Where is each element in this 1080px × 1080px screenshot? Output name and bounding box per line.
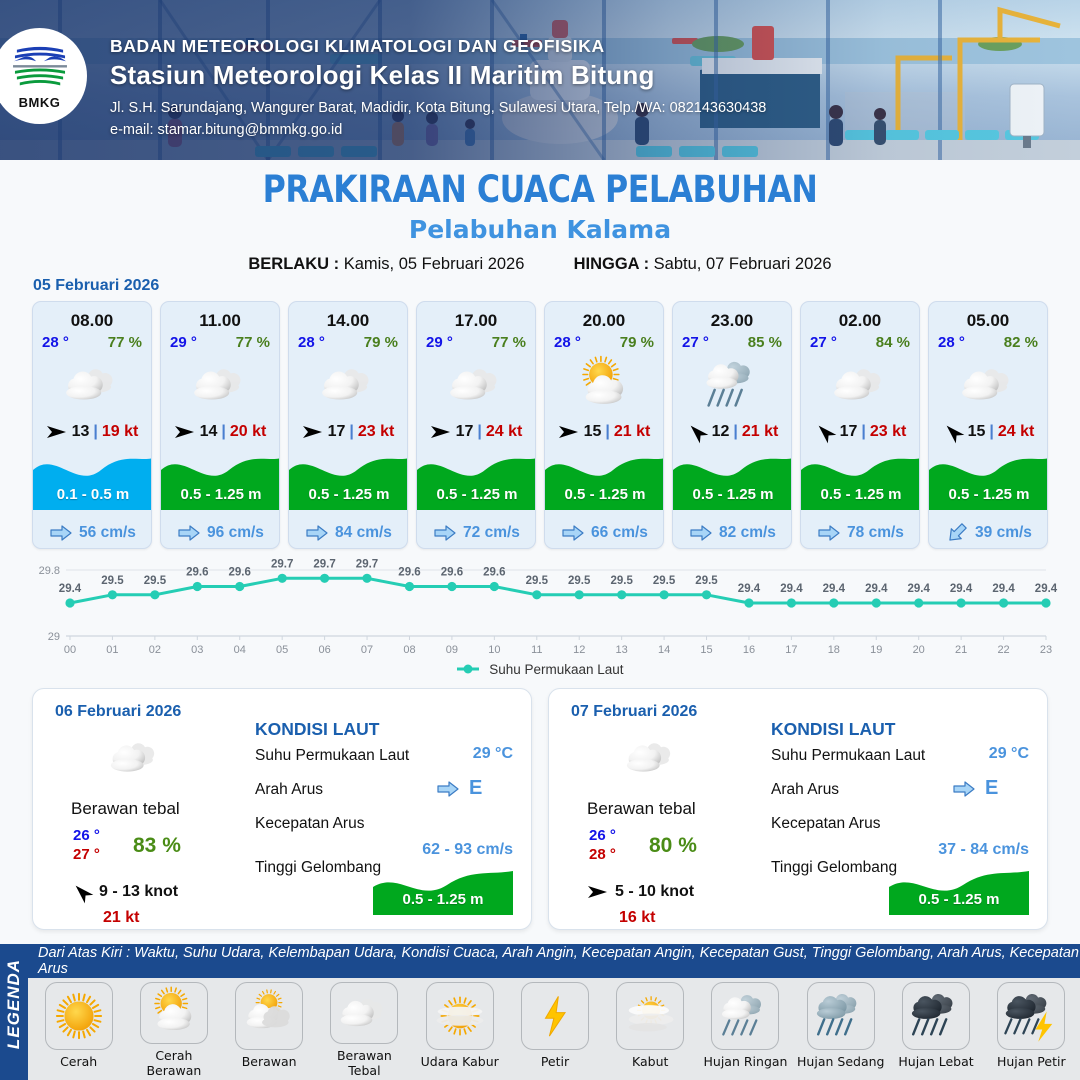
card-separator: | [989,423,993,441]
card-wave-band: 0.5 - 1.25 m [161,448,280,510]
panel-temp-max: 28 ° [589,846,616,863]
svg-text:05: 05 [276,644,288,656]
card-separator: | [93,423,97,441]
valid-until-value: Sabtu, 07 Februari 2026 [654,255,832,273]
current-direction-arrow-icon [306,525,328,541]
wave-height-label: Tinggi Gelombang [255,859,381,877]
current-direction-arrow-icon [953,781,975,797]
bmkg-logo-text: BMKG [19,95,61,110]
card-current-speed: 82 cm/s [719,524,776,542]
svg-text:29.5: 29.5 [653,575,676,587]
svg-text:12: 12 [573,644,585,656]
card-humidity: 85 % [748,334,782,351]
wind-direction-arrow-icon [430,423,452,441]
page-title: PRAKIRAAN CUACA PELABUHAN [27,168,1053,211]
wind-direction-arrow-icon [587,883,609,901]
wind-direction-arrow-icon [71,883,93,901]
current-speed-label: Kecepatan Arus [771,815,880,833]
berawan-tebal-icon [95,729,175,787]
panel-condition: Berawan tebal [71,799,180,819]
legend-item: Berawan [225,982,314,1078]
card-separator: | [733,423,737,441]
card-wave-band: 0.5 - 1.25 m [801,448,920,510]
card-time: 11.00 [161,311,279,331]
card-wave-band: 0.5 - 1.25 m [545,448,664,510]
svg-text:29.8: 29.8 [39,565,60,577]
sst-label: Suhu Permukaan Laut [255,747,409,765]
forecast-card: 11.00 29 ° 77 % [160,301,280,549]
validity-row: BERLAKU : Kamis, 05 Februari 2026 HINGGA… [0,255,1080,274]
card-gust: 21 kt [742,423,778,441]
card-time: 08.00 [33,311,151,331]
panel-wave-height: 0.5 - 1.25 m [373,891,513,908]
card-humidity: 79 % [364,334,398,351]
card-wind: 12 | 21 kt [673,420,791,444]
card-current: 78 cm/s [801,524,920,542]
wind-direction-arrow-icon [942,423,964,441]
berawan-tebal-icon [161,353,279,417]
svg-text:21: 21 [955,644,967,656]
panel-temperatures: 26 ° 28 ° [589,827,616,863]
card-wind: 14 | 20 kt [161,420,279,444]
svg-text:29.4: 29.4 [59,583,82,595]
card-current: 82 cm/s [673,524,792,542]
card-wave-band: 0.5 - 1.25 m [417,448,536,510]
forecast-card: 02.00 27 ° 84 % [800,301,920,549]
card-wind: 17 | 24 kt [417,420,535,444]
svg-text:15: 15 [700,644,712,656]
kabut-icon [616,982,684,1050]
card-time: 14.00 [289,311,407,331]
hujan-ringan-icon [711,982,779,1050]
forecast-card: 05.00 28 ° 82 % [928,301,1048,549]
svg-text:14: 14 [658,644,670,656]
panel-wind-range: 9 - 13 knot [99,883,178,901]
panel-wind: 5 - 10 knot [587,883,694,901]
sea-conditions-title: KONDISI LAUT [255,719,379,740]
card-current: 39 cm/s [929,524,1048,542]
card-time: 20.00 [545,311,663,331]
card-gust: 19 kt [102,423,138,441]
title-block: PRAKIRAAN CUACA PELABUHAN Pelabuhan Kala… [0,168,1080,274]
svg-text:29.4: 29.4 [992,583,1015,595]
current-direction-arrow-icon [946,525,968,541]
udara-kabur-icon [426,982,494,1050]
card-wave-height: 0.5 - 1.25 m [289,486,408,503]
legend-item-label: Berawan Tebal [320,1048,409,1078]
card-wind: 15 | 21 kt [545,420,663,444]
card-wind-speed: 17 [840,423,858,441]
svg-text:29.6: 29.6 [483,567,505,579]
card-wind-speed: 15 [584,423,602,441]
card-temperature: 29 ° [170,334,197,351]
legend-item: Hujan Petir [987,982,1076,1078]
card-temperature: 27 ° [682,334,709,351]
wind-direction-arrow-icon [558,423,580,441]
chart-legend: Suhu Permukaan Laut [0,662,1080,678]
svg-text:07: 07 [361,644,373,656]
svg-text:17: 17 [785,644,797,656]
page-subtitle: Pelabuhan Kalama [0,215,1080,244]
legend-item: Cerah [34,982,123,1078]
legend-item-label: Berawan [242,1054,297,1069]
card-current-speed: 72 cm/s [463,524,520,542]
card-time: 23.00 [673,311,791,331]
card-wind-speed: 14 [200,423,218,441]
current-direction-value: E [469,777,482,800]
svg-text:02: 02 [149,644,161,656]
svg-text:29.7: 29.7 [271,558,293,570]
panel-wind-range: 5 - 10 knot [615,883,694,901]
current-direction-label: Arah Arus [771,781,839,799]
card-wave-height: 0.1 - 0.5 m [33,486,152,503]
card-wind-speed: 17 [456,423,474,441]
panel-wind: 9 - 13 knot [71,883,178,901]
card-wave-height: 0.5 - 1.25 m [545,486,664,503]
berawan-tebal-icon [289,353,407,417]
panel-wave-height: 0.5 - 1.25 m [889,891,1029,908]
card-wind: 17 | 23 kt [801,420,919,444]
legend-caption: Dari Atas Kiri : Waktu, Suhu Udara, Kele… [28,944,1080,978]
svg-text:13: 13 [616,644,628,656]
current-direction-arrow-icon [434,525,456,541]
legend-item-label: Hujan Ringan [704,1054,788,1069]
card-time: 02.00 [801,311,919,331]
panel-gust: 21 kt [103,909,139,927]
card-current: 56 cm/s [33,524,152,542]
current-direction-arrow-icon [818,525,840,541]
legend-item: Petir [510,982,599,1078]
legend-item-label: Udara Kabur [421,1054,499,1069]
forecast-card: 23.00 27 ° 85 % [672,301,792,549]
valid-from-label: BERLAKU : [248,255,339,273]
panel-temperatures: 26 ° 27 ° [73,827,100,863]
card-separator: | [349,423,353,441]
panel-wave-band: 0.5 - 1.25 m [889,867,1029,915]
card-wave-height: 0.5 - 1.25 m [673,486,792,503]
current-direction-arrow-icon [50,525,72,541]
panel-temp-max: 27 ° [73,846,100,863]
panel-gust: 16 kt [619,909,655,927]
card-gust: 20 kt [230,423,266,441]
sst-label: Suhu Permukaan Laut [771,747,925,765]
svg-text:23: 23 [1040,644,1052,656]
current-speed-value: 62 - 93 cm/s [353,841,513,859]
card-wave-height: 0.5 - 1.25 m [929,486,1048,503]
svg-text:29.5: 29.5 [568,575,591,587]
forecast-card: 14.00 28 ° 79 % [288,301,408,549]
berawan-tebal-icon [611,729,691,787]
card-wave-height: 0.5 - 1.25 m [161,486,280,503]
svg-text:29.4: 29.4 [950,583,973,595]
station-name: Stasiun Meteorologi Kelas II Maritim Bit… [110,60,655,91]
cerah-berawan-icon [140,982,208,1044]
card-gust: 21 kt [614,423,650,441]
legend-item: Kabut [606,982,695,1078]
daily-summary-panel: 06 Februari 2026 Berawan tebal 26 ° 27 [32,688,532,930]
svg-text:18: 18 [828,644,840,656]
card-current-speed: 84 cm/s [335,524,392,542]
forecast-day-label: 05 Februari 2026 [33,277,159,295]
berawan-tebal-icon [330,982,398,1044]
card-wind-speed: 13 [72,423,90,441]
hujan-lebat-icon [902,982,970,1050]
card-wind: 17 | 23 kt [289,420,407,444]
svg-text:01: 01 [106,644,118,656]
hujan-ringan-icon [673,353,791,417]
berawan-icon [235,982,303,1050]
card-temperature: 28 ° [298,334,325,351]
valid-from-value: Kamis, 05 Februari 2026 [344,255,525,273]
svg-text:29.4: 29.4 [823,583,846,595]
chart-legend-label: Suhu Permukaan Laut [489,662,623,677]
card-wave-band: 0.5 - 1.25 m [929,448,1048,510]
card-wave-band: 0.1 - 0.5 m [33,448,152,510]
current-direction-arrow-icon [178,525,200,541]
legend-item-label: Cerah Berawan [129,1048,218,1078]
card-current: 84 cm/s [289,524,408,542]
panel-humidity: 80 % [649,834,697,858]
berawan-tebal-icon [417,353,535,417]
card-current: 66 cm/s [545,524,664,542]
hujan-petir-icon [997,982,1065,1050]
current-direction-value-group: E [437,777,482,800]
svg-text:29.7: 29.7 [356,558,378,570]
legend-item: Hujan Sedang [796,982,885,1078]
svg-text:04: 04 [234,644,246,656]
card-time: 17.00 [417,311,535,331]
legend-item-label: Hujan Lebat [898,1054,973,1069]
svg-text:22: 22 [997,644,1009,656]
svg-text:29.4: 29.4 [1035,583,1058,595]
svg-text:29.6: 29.6 [441,567,463,579]
legend-spine-label: LEGENDA [4,954,24,1054]
card-temperature: 27 ° [810,334,837,351]
card-wind: 15 | 24 kt [929,420,1047,444]
card-current: 72 cm/s [417,524,536,542]
card-time: 05.00 [929,311,1047,331]
svg-text:19: 19 [870,644,882,656]
legend-item-label: Hujan Petir [997,1054,1066,1069]
card-current-speed: 66 cm/s [591,524,648,542]
svg-text:29.4: 29.4 [738,583,761,595]
legend-item: Hujan Lebat [891,982,980,1078]
svg-text:29.6: 29.6 [398,567,420,579]
legend-item-label: Petir [541,1054,569,1069]
wind-direction-arrow-icon [174,423,196,441]
card-separator: | [605,423,609,441]
card-wind-speed: 12 [712,423,730,441]
chart-legend-marker [456,663,480,678]
panel-date: 07 Februari 2026 [571,703,697,721]
svg-text:09: 09 [446,644,458,656]
legend-item-label: Cerah [60,1054,97,1069]
svg-text:06: 06 [318,644,330,656]
card-wave-height: 0.5 - 1.25 m [801,486,920,503]
cerah-berawan-icon [545,353,663,417]
svg-text:29.5: 29.5 [526,575,549,587]
legend-item-label: Hujan Sedang [797,1054,884,1069]
svg-text:10: 10 [488,644,500,656]
station-email: e-mail: stamar.bitung@bmmkg.go.id [110,122,342,138]
card-wind: 13 | 19 kt [33,420,151,444]
svg-text:29.5: 29.5 [144,575,167,587]
current-direction-arrow-icon [690,525,712,541]
wind-direction-arrow-icon [302,423,324,441]
svg-text:20: 20 [913,644,925,656]
hourly-forecast-row: 08.00 28 ° 77 % [32,301,1048,549]
svg-text:11: 11 [531,644,542,656]
current-direction-label: Arah Arus [255,781,323,799]
daily-summary-panel: 07 Februari 2026 Berawan tebal 26 ° 28 [548,688,1048,930]
wind-direction-arrow-icon [46,423,68,441]
current-direction-value-group: E [953,777,998,800]
card-humidity: 82 % [1004,334,1038,351]
panel-humidity: 83 % [133,834,181,858]
svg-text:03: 03 [191,644,203,656]
card-gust: 23 kt [358,423,394,441]
card-humidity: 77 % [492,334,526,351]
legend-item: Cerah Berawan [129,982,218,1078]
card-temperature: 28 ° [554,334,581,351]
card-current-speed: 78 cm/s [847,524,904,542]
card-current-speed: 56 cm/s [79,524,136,542]
legend-item: Udara Kabur [415,982,504,1078]
sea-conditions-title: KONDISI LAUT [771,719,895,740]
card-temperature: 28 ° [938,334,965,351]
svg-text:29.7: 29.7 [313,558,335,570]
card-gust: 24 kt [998,423,1034,441]
berawan-tebal-icon [929,353,1047,417]
forecast-card: 08.00 28 ° 77 % [32,301,152,549]
legend-section: LEGENDA Dari Atas Kiri : Waktu, Suhu Uda… [0,944,1080,1080]
panel-wave-band: 0.5 - 1.25 m [373,867,513,915]
card-separator: | [477,423,481,441]
hujan-sedang-icon [807,982,875,1050]
svg-text:29.6: 29.6 [229,567,251,579]
card-temperature: 28 ° [42,334,69,351]
current-speed-label: Kecepatan Arus [255,815,364,833]
card-wind-speed: 17 [328,423,346,441]
card-current-speed: 39 cm/s [975,524,1032,542]
panel-condition: Berawan tebal [587,799,696,819]
sst-chart: 29.8290001020304050607080910111213141516… [20,558,1060,658]
legend-item-label: Kabut [632,1054,668,1069]
berawan-tebal-icon [33,353,151,417]
svg-text:29.4: 29.4 [908,583,931,595]
valid-until-label: HINGGA : [574,255,649,273]
svg-text:29.4: 29.4 [780,583,803,595]
berawan-tebal-icon [801,353,919,417]
card-humidity: 79 % [620,334,654,351]
current-direction-value: E [985,777,998,800]
legend-item: Berawan Tebal [320,982,409,1078]
wind-direction-arrow-icon [814,423,836,441]
svg-text:29.6: 29.6 [186,567,208,579]
panel-temp-min: 26 ° [589,827,616,844]
card-gust: 23 kt [870,423,906,441]
agency-name: BADAN METEOROLOGI KLIMATOLOGI DAN GEOFIS… [110,36,605,57]
svg-text:16: 16 [743,644,755,656]
svg-text:08: 08 [403,644,415,656]
card-wave-band: 0.5 - 1.25 m [289,448,408,510]
card-wind-speed: 15 [968,423,986,441]
petir-icon [521,982,589,1050]
card-separator: | [861,423,865,441]
svg-text:29: 29 [48,631,60,643]
legend-item: Hujan Ringan [701,982,790,1078]
card-temperature: 29 ° [426,334,453,351]
svg-text:29.5: 29.5 [695,575,718,587]
card-current: 96 cm/s [161,524,280,542]
card-wave-band: 0.5 - 1.25 m [673,448,792,510]
svg-text:29.4: 29.4 [865,583,888,595]
bmkg-logo-mark [11,42,69,94]
legend-items: Cerah Cerah Berawan [30,982,1080,1078]
svg-text:29.5: 29.5 [611,575,634,587]
svg-text:29.5: 29.5 [101,575,124,587]
card-separator: | [221,423,225,441]
forecast-card: 17.00 29 ° 77 % [416,301,536,549]
sst-value: 29 °C [929,745,1029,763]
legend-spine: LEGENDA [0,944,28,1080]
cerah-icon [45,982,113,1050]
station-address: Jl. S.H. Sarundajang, Wangurer Barat, Ma… [110,100,766,116]
current-direction-arrow-icon [562,525,584,541]
panel-date: 06 Februari 2026 [55,703,181,721]
card-humidity: 77 % [108,334,142,351]
card-humidity: 84 % [876,334,910,351]
wave-height-label: Tinggi Gelombang [771,859,897,877]
wind-direction-arrow-icon [686,423,708,441]
panel-temp-min: 26 ° [73,827,100,844]
card-humidity: 77 % [236,334,270,351]
card-wave-height: 0.5 - 1.25 m [417,486,536,503]
card-gust: 24 kt [486,423,522,441]
sst-value: 29 °C [413,745,513,763]
forecast-card: 20.00 28 ° 79 % 15 | [544,301,664,549]
current-speed-value: 37 - 84 cm/s [869,841,1029,859]
card-current-speed: 96 cm/s [207,524,264,542]
page-header: BMKG BADAN METEOROLOGI KLIMATOLOGI DAN G… [0,0,1080,160]
current-direction-arrow-icon [437,781,459,797]
svg-text:00: 00 [64,644,76,656]
